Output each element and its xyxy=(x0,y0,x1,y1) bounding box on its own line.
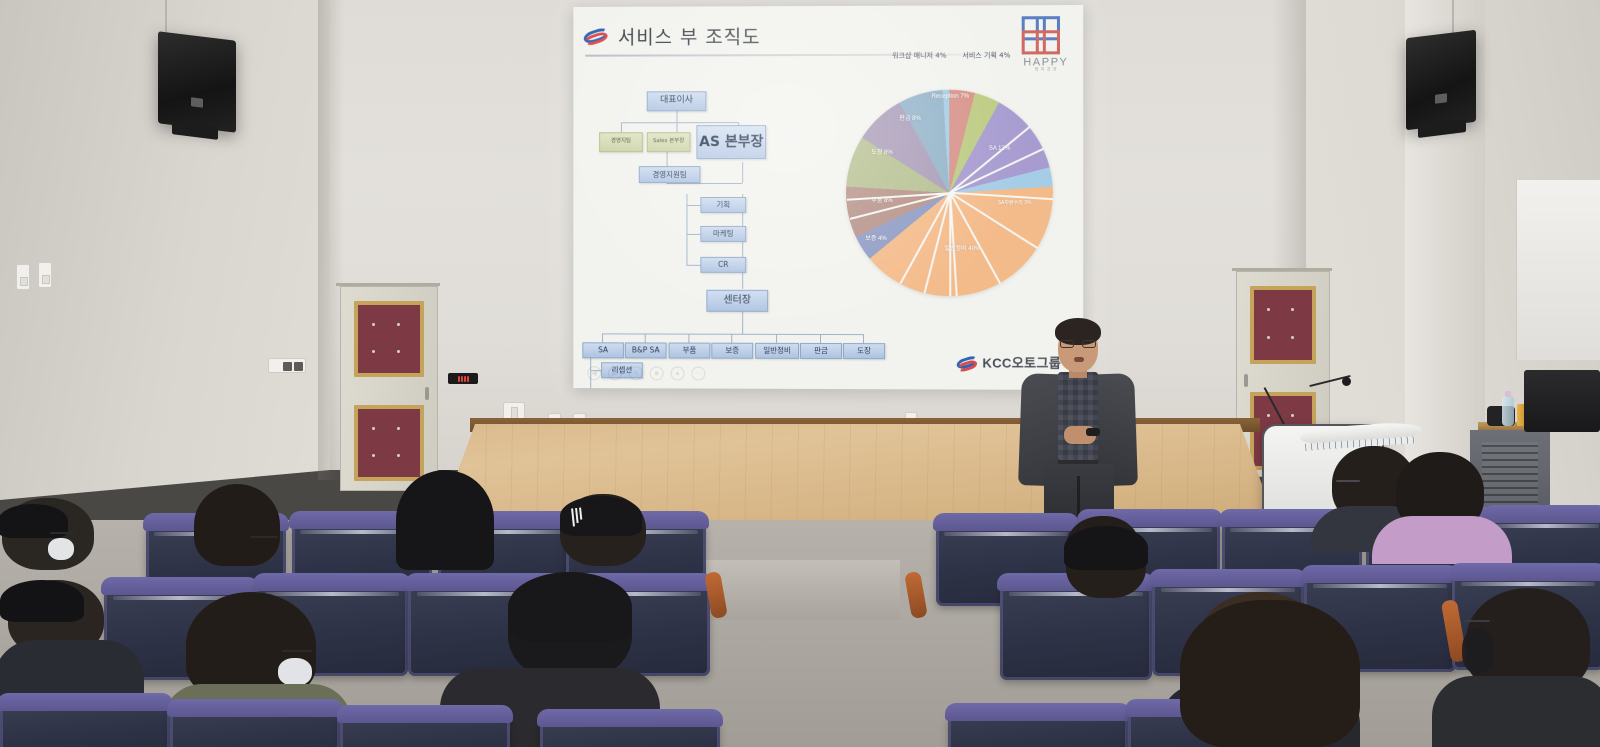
audience-person xyxy=(508,576,632,680)
switch-toggle[interactable] xyxy=(42,275,50,284)
pie-slice-label-painting: 도장 8% xyxy=(862,150,902,158)
pie-slice-label-panel-beating: 판금 8% xyxy=(890,116,930,124)
org-connector xyxy=(686,234,700,235)
face-mask-icon xyxy=(1462,628,1494,674)
door-handle[interactable] xyxy=(425,387,429,400)
org-connector xyxy=(667,183,743,184)
speaker-left xyxy=(158,31,236,133)
org-connector xyxy=(731,334,732,343)
data-port[interactable] xyxy=(294,362,303,371)
seat[interactable] xyxy=(170,706,340,747)
pie-chart-graphic xyxy=(846,90,1053,297)
org-node-general-maint[interactable]: 일반정비 xyxy=(755,343,799,359)
shoulders xyxy=(1432,676,1600,747)
presentation-controls[interactable]: ◀ ▶ ✎ ■ ● ⋯ xyxy=(587,366,705,380)
next-icon[interactable]: ▶ xyxy=(608,366,622,380)
audience-person xyxy=(396,470,494,570)
presentation-clicker[interactable] xyxy=(1086,428,1100,436)
org-node-sales-head[interactable]: Sales 본부장 xyxy=(647,132,691,152)
water-bottle xyxy=(1502,396,1514,426)
seat[interactable] xyxy=(340,712,510,747)
pie-slice-label-general-maint: 일반정비 40% xyxy=(932,246,992,254)
audience-person xyxy=(186,592,316,698)
light-switch-right[interactable] xyxy=(38,262,52,288)
org-connector xyxy=(776,334,777,343)
org-connector xyxy=(602,333,603,342)
presenter xyxy=(1014,318,1140,533)
door-panel-upper xyxy=(354,301,423,377)
hair xyxy=(194,484,280,566)
org-connector xyxy=(688,334,689,343)
org-node-cr[interactable]: CR xyxy=(700,257,746,273)
shoulders xyxy=(1372,516,1512,564)
light-switch-left[interactable] xyxy=(16,264,30,290)
org-node-marketing[interactable]: 마케팅 xyxy=(700,226,746,242)
door-handle[interactable] xyxy=(1244,374,1248,387)
auditorium-scene: 서비스 부 조직도 HAPPY 행 복 경 영 xyxy=(0,0,1600,747)
wall-outlet-group[interactable] xyxy=(268,358,306,373)
org-node-parts[interactable]: 부품 xyxy=(669,343,711,359)
pie-slice-label-warranty: 보증 4% xyxy=(858,236,894,244)
org-connector xyxy=(645,334,646,343)
glasses-icon xyxy=(1464,620,1490,622)
org-connector xyxy=(686,265,700,266)
hair xyxy=(1180,600,1360,747)
pie-slice-label-sa: SA 13% xyxy=(976,146,1022,154)
led-status-display xyxy=(448,373,478,384)
face-mask-icon xyxy=(48,538,74,560)
seat[interactable] xyxy=(540,716,720,747)
mouth xyxy=(1074,357,1084,362)
side-monitor xyxy=(1524,370,1600,432)
org-connector xyxy=(667,152,668,166)
org-node-mgmt-support[interactable]: 경영지원팀 xyxy=(639,166,701,183)
plaid-shirt xyxy=(1058,372,1098,460)
audience-person xyxy=(1066,528,1146,598)
seat[interactable] xyxy=(948,710,1128,747)
cap-icon xyxy=(0,580,84,622)
org-node-center-manager[interactable]: 센터장 xyxy=(706,290,768,312)
beanie-icon xyxy=(508,572,632,642)
page-title: 서비스 부 조직도 xyxy=(618,22,761,49)
org-node-as-head[interactable]: AS 본부장 xyxy=(696,125,766,159)
right-wall-panel xyxy=(1516,180,1600,360)
kcc-swoosh-logo-icon xyxy=(583,27,609,44)
kcc-swoosh-logo-icon xyxy=(956,355,978,369)
pie-label-workshop-manager: 워크샵 매니저 4% xyxy=(892,52,946,61)
door-panel-upper xyxy=(1250,286,1316,364)
org-connector xyxy=(621,122,738,123)
speaker-right xyxy=(1406,30,1476,131)
glasses-icon xyxy=(250,536,278,538)
org-node-bnp-sa[interactable]: B&P SA xyxy=(625,342,667,358)
switch-toggle[interactable] xyxy=(20,277,28,286)
data-port[interactable] xyxy=(283,362,292,371)
org-connector xyxy=(677,111,678,122)
org-connector xyxy=(742,162,743,183)
pen-icon[interactable]: ✎ xyxy=(629,366,643,380)
glasses-icon xyxy=(282,650,312,652)
glasses-icon xyxy=(50,532,76,534)
org-connector xyxy=(686,205,700,206)
org-connector xyxy=(820,334,821,343)
audience-person xyxy=(1180,600,1360,747)
org-connector xyxy=(621,122,622,132)
face-mask-icon xyxy=(278,658,312,686)
speaker-brand-icon xyxy=(191,97,203,107)
microphone-icon xyxy=(1342,377,1351,386)
org-node-sa[interactable]: SA xyxy=(582,342,624,358)
pie-slice-label-sa-repair: SA차량수리 3% xyxy=(984,200,1044,206)
glasses-icon xyxy=(1336,480,1360,482)
org-node-warranty[interactable]: 보증 xyxy=(711,343,753,359)
prev-icon[interactable]: ◀ xyxy=(587,366,601,380)
more-icon[interactable]: ⋯ xyxy=(691,367,705,381)
hoodie-icon xyxy=(396,470,494,570)
slides-icon[interactable]: ■ xyxy=(650,366,664,380)
org-node-planning[interactable]: 기획 xyxy=(700,197,746,213)
org-connector xyxy=(742,312,743,334)
audience-person xyxy=(194,484,280,566)
pie-label-service-planning: 서비스 기획 4% xyxy=(962,51,1010,60)
seat[interactable] xyxy=(0,700,170,747)
glasses-icon xyxy=(1060,340,1096,348)
projection-screen: 서비스 부 조직도 HAPPY 행 복 경 영 xyxy=(573,5,1083,390)
speaker-brand-icon xyxy=(1435,93,1447,103)
door-left[interactable] xyxy=(340,286,438,491)
zoom-icon[interactable]: ● xyxy=(671,366,685,380)
pie-slice-label-reception: Reception 7% xyxy=(924,94,976,102)
audience-person xyxy=(2,498,94,570)
org-node-mgmt-team[interactable]: 경영지팀 xyxy=(599,132,643,152)
org-node-ceo[interactable]: 대표이사 xyxy=(647,91,707,111)
cap-icon xyxy=(1064,526,1148,570)
org-connector xyxy=(677,122,678,132)
pie-slice-label-parts: 부품 8% xyxy=(862,198,902,206)
pie-chart: 워크샵 매니저 4% 서비스 기획 4% SA 13% SA차량수리 3% 일반… xyxy=(824,49,1075,350)
adidas-logo-icon xyxy=(571,508,583,527)
audience-person xyxy=(560,494,646,566)
